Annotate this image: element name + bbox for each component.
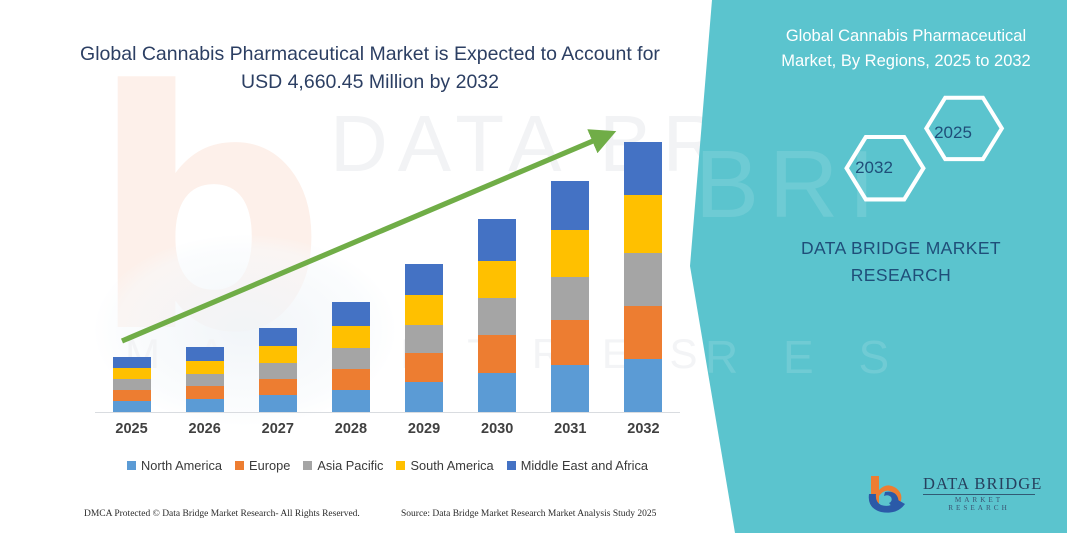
legend-label: North America xyxy=(141,458,222,473)
footer-copyright: DMCA Protected © Data Bridge Market Rese… xyxy=(84,509,360,519)
legend-item-middle-east-and-africa[interactable]: Middle East and Africa xyxy=(507,458,648,473)
logo-mark-icon xyxy=(865,472,917,516)
hexagon-label-2025: 2025 xyxy=(918,123,988,143)
data-bridge-logo: DATA BRIDGE MARKET RESEARCH xyxy=(865,470,1040,518)
legend-label: Middle East and Africa xyxy=(521,458,648,473)
panel-watermark-bottom: R E S xyxy=(705,330,905,384)
infographic-canvas: b DATA BRIDGE M A R K E T R E S E A R C … xyxy=(0,0,1067,533)
logo-text: DATA BRIDGE MARKET RESEARCH xyxy=(923,474,1043,512)
panel-content: BRI R E S Global Cannabis Pharmaceutical… xyxy=(735,0,1067,533)
x-label-2032: 2032 xyxy=(607,421,679,437)
legend-item-europe[interactable]: Europe xyxy=(235,458,290,473)
hexagon-label-2032: 2032 xyxy=(839,158,909,178)
panel-brand-line1: DATA BRIDGE MARKET xyxy=(751,235,1051,262)
legend-swatch-icon xyxy=(303,461,312,470)
x-label-2027: 2027 xyxy=(242,421,314,437)
x-axis-labels: 20252026202720282029203020312032 xyxy=(95,421,680,437)
x-label-2029: 2029 xyxy=(388,421,460,437)
panel-brand-text: DATA BRIDGE MARKET RESEARCH xyxy=(751,235,1051,289)
chart-title: Global Cannabis Pharmaceutical Market is… xyxy=(60,40,680,96)
legend-item-south-america[interactable]: South America xyxy=(396,458,493,473)
x-label-2026: 2026 xyxy=(169,421,241,437)
hexagon-shapes xyxy=(735,93,1067,205)
legend-item-north-america[interactable]: North America xyxy=(127,458,222,473)
panel-brand-line2: RESEARCH xyxy=(751,262,1051,289)
x-label-2030: 2030 xyxy=(461,421,533,437)
chart-legend: North AmericaEuropeAsia PacificSouth Ame… xyxy=(95,458,680,473)
legend-item-asia-pacific[interactable]: Asia Pacific xyxy=(303,458,383,473)
hexagon-group: 2025 2032 xyxy=(735,93,1067,205)
legend-swatch-icon xyxy=(507,461,516,470)
legend-label: Asia Pacific xyxy=(317,458,383,473)
legend-swatch-icon xyxy=(396,461,405,470)
logo-divider xyxy=(923,494,1035,495)
panel-title: Global Cannabis Pharmaceutical Market, B… xyxy=(760,24,1052,74)
legend-label: Europe xyxy=(249,458,290,473)
x-label-2031: 2031 xyxy=(534,421,606,437)
x-label-2025: 2025 xyxy=(96,421,168,437)
trend-arrow xyxy=(95,120,680,415)
legend-swatch-icon xyxy=(235,461,244,470)
footer-source: Source: Data Bridge Market Research Mark… xyxy=(401,509,656,519)
x-label-2028: 2028 xyxy=(315,421,387,437)
legend-swatch-icon xyxy=(127,461,136,470)
logo-main-text: DATA BRIDGE xyxy=(923,474,1043,493)
logo-sub-text: MARKET RESEARCH xyxy=(923,496,1035,512)
legend-label: South America xyxy=(410,458,493,473)
